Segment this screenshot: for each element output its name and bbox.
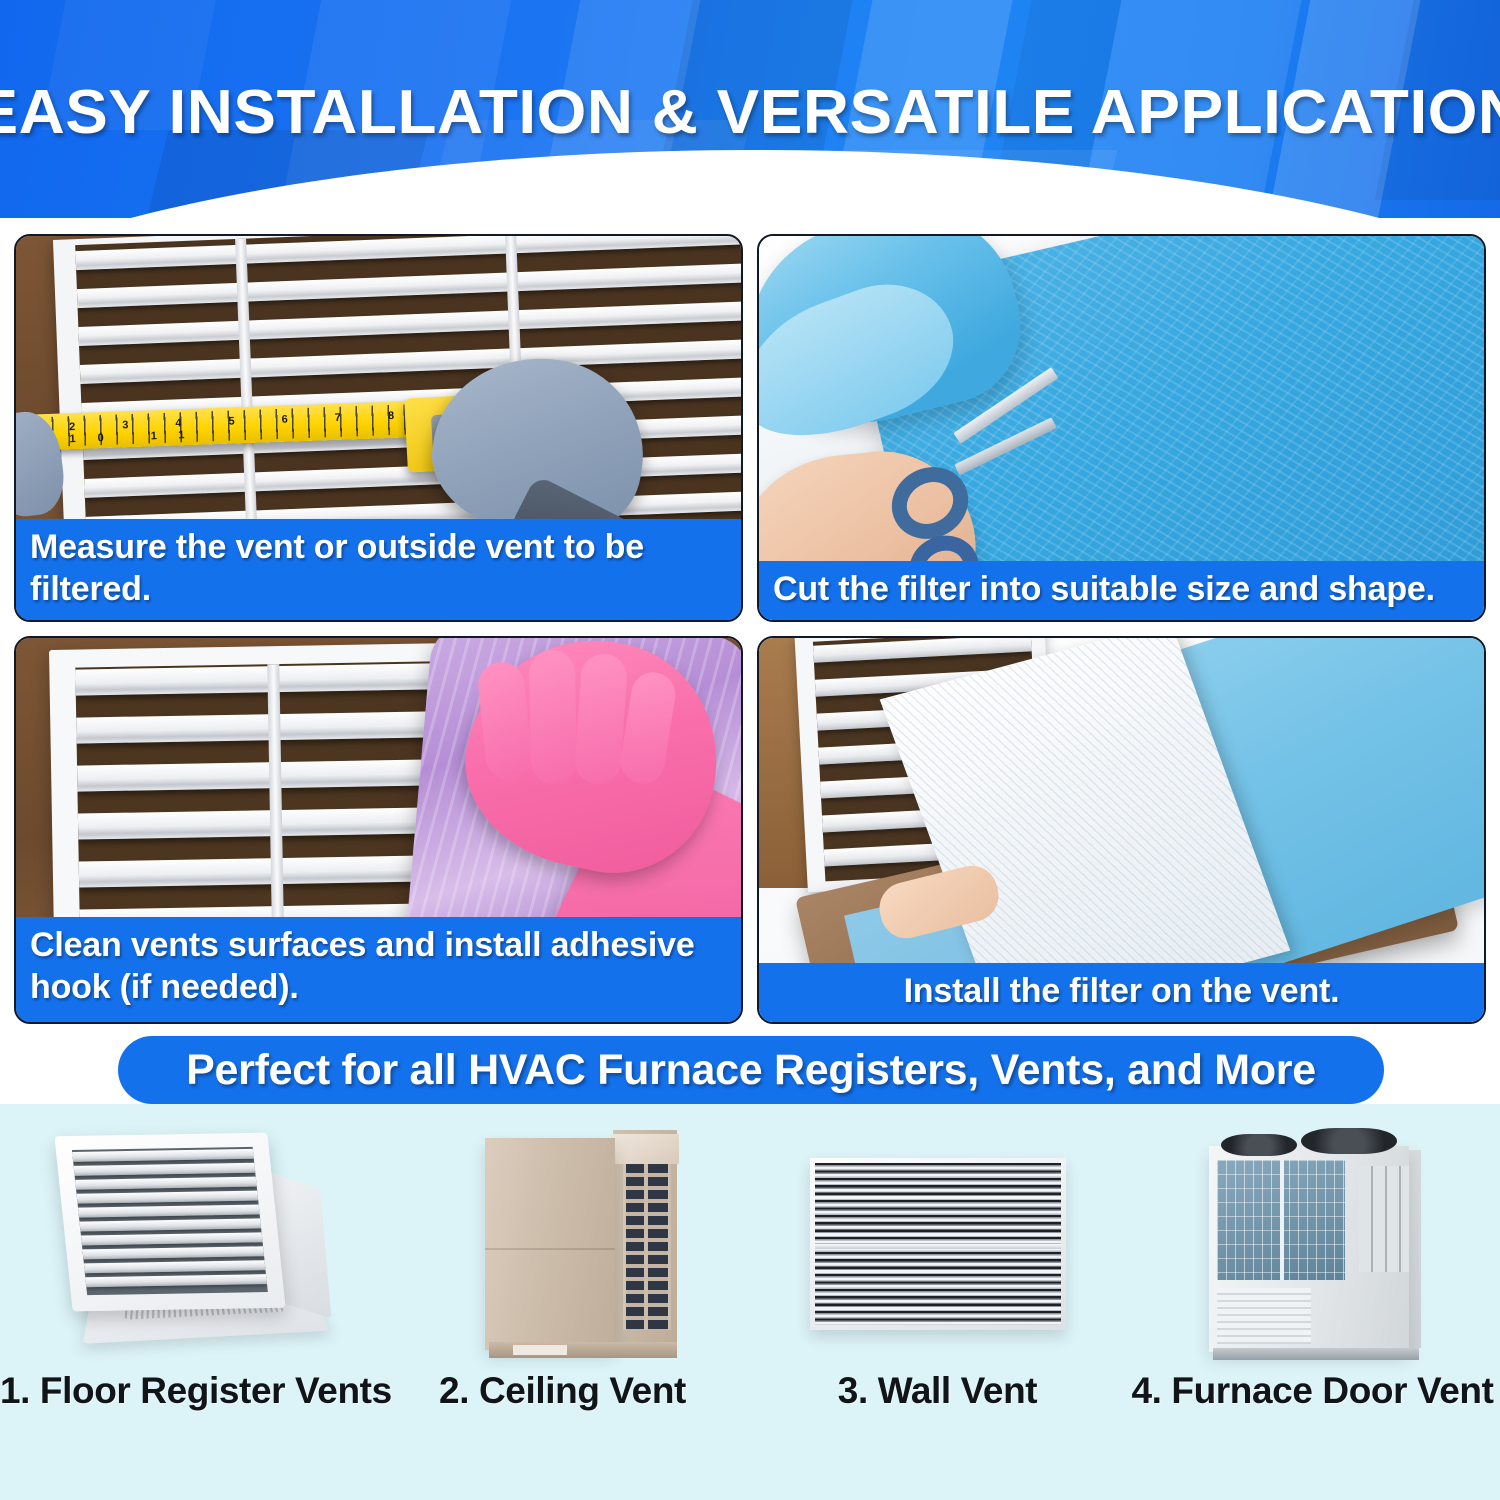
step-caption-install: Install the filter on the vent. — [759, 963, 1484, 1022]
ceiling-vent-image — [413, 1120, 713, 1370]
step-panel-cut: Cut the filter into suitable size and sh… — [757, 234, 1486, 622]
infographic-page: EASY INSTALLATION & VERSATILE APPLICATIO… — [0, 0, 1500, 1500]
furnace-door-vent-image — [1163, 1120, 1463, 1370]
application-item-wall-vent: 3. Wall Vent — [750, 1104, 1125, 1500]
lower-louver-panel — [1217, 1288, 1311, 1344]
wall-vent-image — [788, 1120, 1088, 1370]
step-caption-measure: Measure the vent or outside vent to be f… — [16, 519, 741, 620]
applications-grid: 1. Floor Register Vents 2. Ceiling Vent — [0, 1104, 1500, 1500]
glove-finger — [529, 650, 577, 785]
application-label: 2. Ceiling Vent — [375, 1370, 750, 1412]
header-banner: EASY INSTALLATION & VERSATILE APPLICATIO… — [0, 0, 1500, 218]
application-label: 3. Wall Vent — [750, 1370, 1125, 1412]
promo-banner: Perfect for all HVAC Furnace Registers, … — [118, 1036, 1384, 1104]
register-face — [54, 1133, 285, 1312]
unit-top-panel — [611, 1134, 679, 1164]
floor-register-vent-image — [38, 1120, 338, 1370]
step-caption-cut: Cut the filter into suitable size and sh… — [759, 561, 1484, 620]
step-panel-measure: 1 2 3 4 5 6 7 8 9 10 11 Measure the vent… — [14, 234, 743, 622]
coil-divider — [1280, 1160, 1284, 1280]
side-vent-grille — [1359, 1166, 1409, 1272]
application-label: 4. Furnace Door Vent — [1125, 1370, 1500, 1412]
application-label: 1. Floor Register Vents — [0, 1370, 375, 1412]
unit-front-panel — [485, 1138, 615, 1350]
step-panel-install: Install the filter on the vent. — [757, 636, 1486, 1024]
fan-grille-right — [1301, 1128, 1397, 1154]
grille-frame — [810, 1158, 1066, 1330]
step-panels-grid: 1 2 3 4 5 6 7 8 9 10 11 Measure the vent… — [14, 234, 1486, 1024]
application-item-ceiling-vent: 2. Ceiling Vent — [375, 1104, 750, 1500]
application-item-floor-register: 1. Floor Register Vents — [0, 1104, 375, 1500]
register-louvers — [71, 1147, 267, 1295]
application-item-furnace-door-vent: 4. Furnace Door Vent — [1125, 1104, 1500, 1500]
applications-section: 1. Floor Register Vents 2. Ceiling Vent — [0, 1104, 1500, 1500]
step-caption-clean: Clean vents surfaces and install adhesiv… — [16, 917, 741, 1022]
unit-base — [1213, 1348, 1419, 1360]
page-title: EASY INSTALLATION & VERSATILE APPLICATIO… — [0, 0, 1500, 218]
grille-center-divider — [815, 1244, 1061, 1249]
step-panel-clean: Clean vents surfaces and install adhesiv… — [14, 636, 743, 1024]
unit-base — [489, 1342, 677, 1358]
unit-grille-divider — [623, 1164, 671, 1330]
fan-grille-left — [1221, 1134, 1297, 1156]
